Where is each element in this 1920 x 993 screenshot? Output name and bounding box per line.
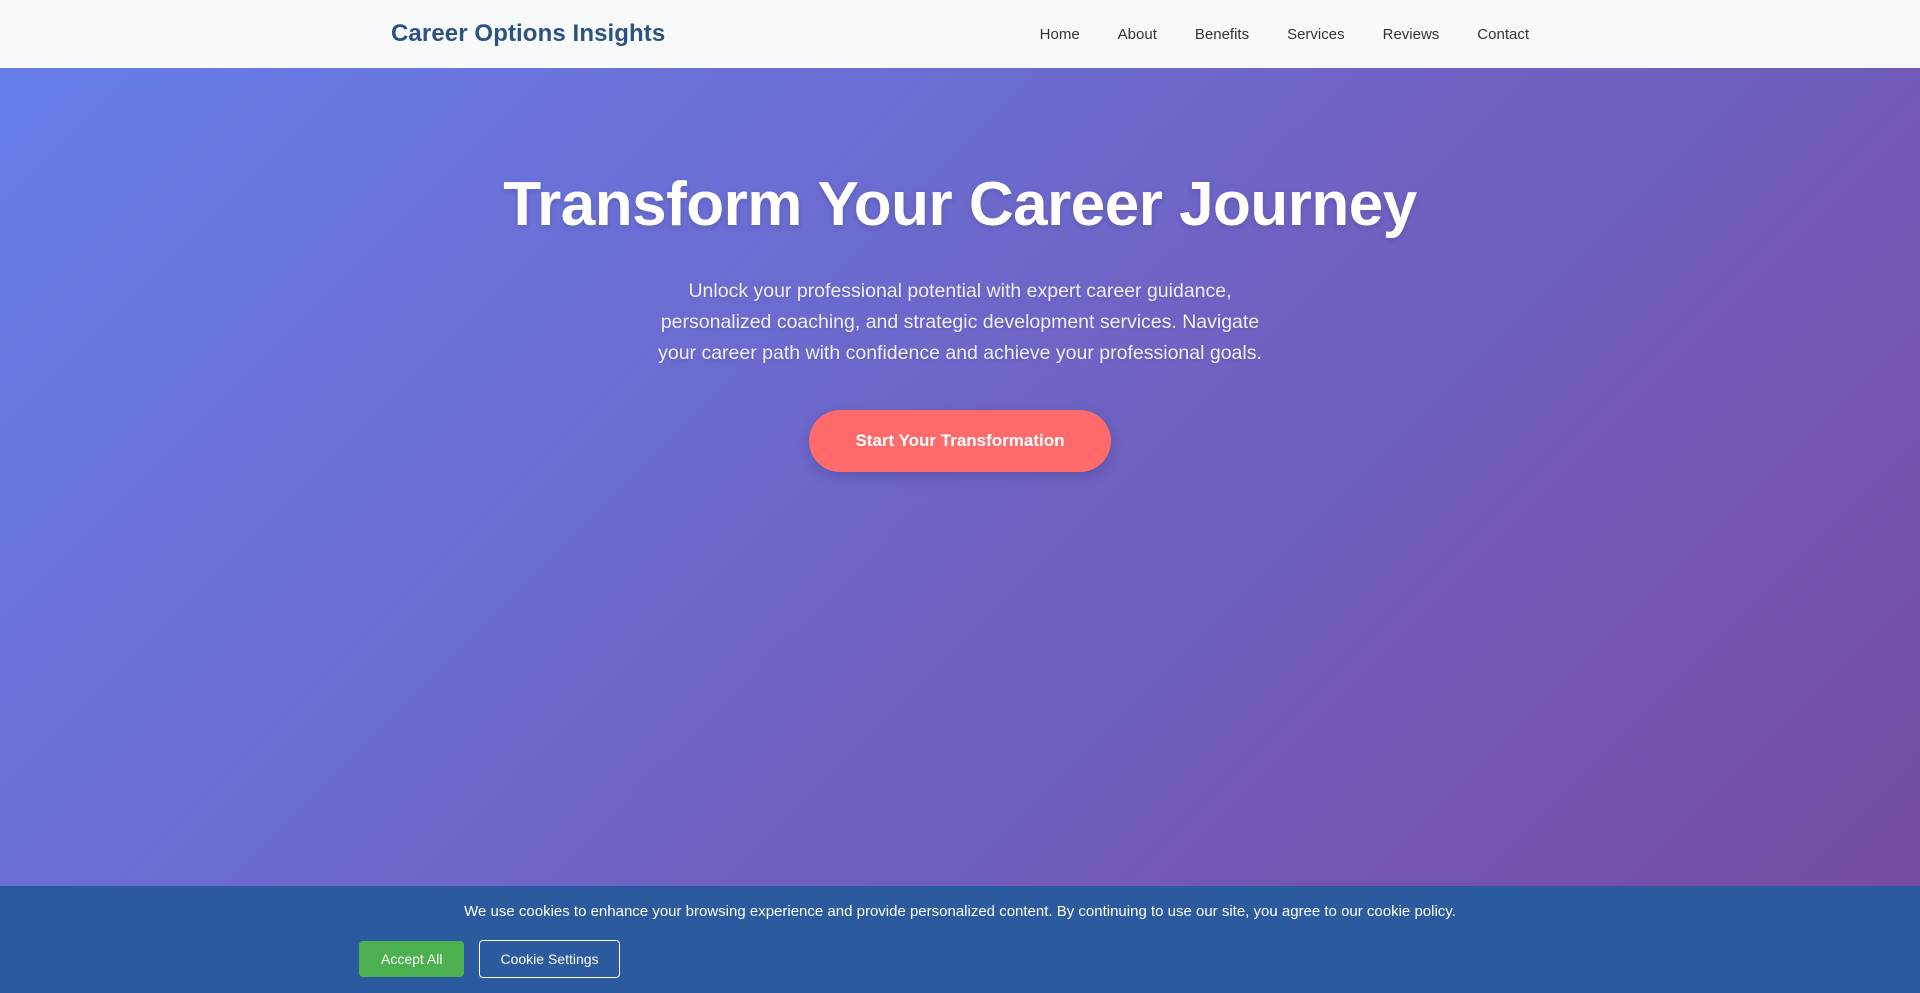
nav-link-services[interactable]: Services [1287, 26, 1345, 43]
hero-cta-wrap: Start Your Transformation [0, 410, 1920, 472]
brand-logo[interactable]: Career Options Insights [391, 20, 665, 48]
site-header: Career Options Insights Home About Benef… [0, 0, 1920, 68]
cookie-consent-actions: Accept All Cookie Settings [0, 940, 1920, 978]
header-inner: Career Options Insights Home About Benef… [0, 20, 1920, 48]
main-nav: Home About Benefits Services Reviews Con… [1040, 26, 1529, 43]
cookie-consent-message: We use cookies to enhance your browsing … [424, 901, 1496, 922]
nav-link-contact[interactable]: Contact [1477, 26, 1529, 43]
hero-subtitle: Unlock your professional potential with … [656, 276, 1264, 368]
nav-link-benefits[interactable]: Benefits [1195, 26, 1249, 43]
nav-link-home[interactable]: Home [1040, 26, 1080, 43]
hero-content: Transform Your Career Journey Unlock you… [0, 68, 1920, 472]
cookie-settings-button[interactable]: Cookie Settings [479, 940, 619, 978]
hero-section: Transform Your Career Journey Unlock you… [0, 68, 1920, 886]
start-transformation-button[interactable]: Start Your Transformation [809, 410, 1110, 472]
cookie-consent-banner: We use cookies to enhance your browsing … [0, 886, 1920, 993]
accept-all-button[interactable]: Accept All [359, 941, 464, 977]
nav-link-reviews[interactable]: Reviews [1383, 26, 1440, 43]
nav-link-about[interactable]: About [1118, 26, 1157, 43]
hero-title: Transform Your Career Journey [0, 169, 1920, 240]
